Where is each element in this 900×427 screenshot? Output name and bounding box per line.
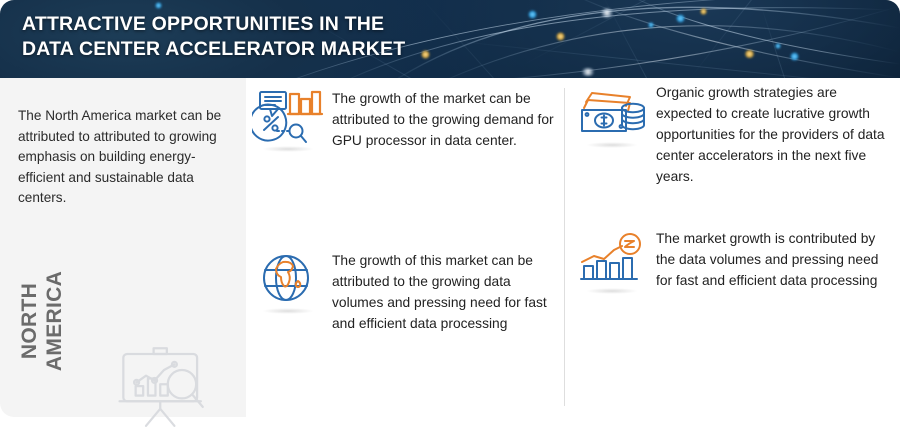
- insight-cell-4: The market growth is contributed by the …: [576, 228, 894, 296]
- insight-text-4: The market growth is contributed by the …: [656, 228, 894, 291]
- spark-white-1: [600, 8, 614, 18]
- icon-shadow: [262, 146, 314, 152]
- spark-blue-5: [775, 43, 781, 49]
- spark-blue-6: [155, 2, 162, 9]
- insight-text-1: The growth of the market can be attribut…: [332, 86, 564, 151]
- left-region-panel: The North America market can be attribut…: [0, 78, 246, 417]
- region-label: NORTH AMERICA: [17, 241, 67, 401]
- spark-blue-1: [528, 10, 537, 19]
- insight-cell-2: Organic growth strategies are expected t…: [576, 82, 894, 187]
- spark-blue-2: [676, 14, 685, 23]
- icon-shadow: [262, 308, 314, 314]
- infographic-root: ATTRACTIVE OPPORTUNITIES IN THE DATA CEN…: [0, 0, 900, 427]
- money-cash-coins-icon: [576, 82, 648, 150]
- spark-gold-1: [421, 50, 430, 59]
- insight-text-2: Organic growth strategies are expected t…: [656, 82, 894, 187]
- page-title: ATTRACTIVE OPPORTUNITIES IN THE DATA CEN…: [22, 12, 405, 62]
- spark-white-2: [580, 68, 596, 76]
- growth-bar-chart-icon: [576, 228, 648, 296]
- insight-cell-3: The growth of this market can be attribu…: [252, 248, 564, 334]
- spark-gold-3: [744, 50, 755, 58]
- icon-shadow: [586, 142, 638, 148]
- region-paragraph: The North America market can be attribut…: [18, 106, 234, 209]
- spark-blue-4: [790, 52, 799, 61]
- spark-gold-4: [700, 8, 707, 15]
- insight-text-3: The growth of this market can be attribu…: [332, 248, 564, 334]
- spark-gold-2: [556, 32, 565, 41]
- presentation-chart-magnifier-icon: [112, 340, 216, 427]
- icon-shadow: [586, 288, 638, 294]
- spark-blue-3: [648, 22, 654, 28]
- content-area: The growth of the market can be attribut…: [246, 78, 900, 417]
- vertical-divider: [564, 88, 565, 406]
- globe-world-icon: [252, 248, 324, 316]
- insight-cell-1: The growth of the market can be attribut…: [252, 86, 564, 154]
- header-banner: ATTRACTIVE OPPORTUNITIES IN THE DATA CEN…: [0, 0, 900, 78]
- market-analysis-chart-icon: [252, 86, 324, 154]
